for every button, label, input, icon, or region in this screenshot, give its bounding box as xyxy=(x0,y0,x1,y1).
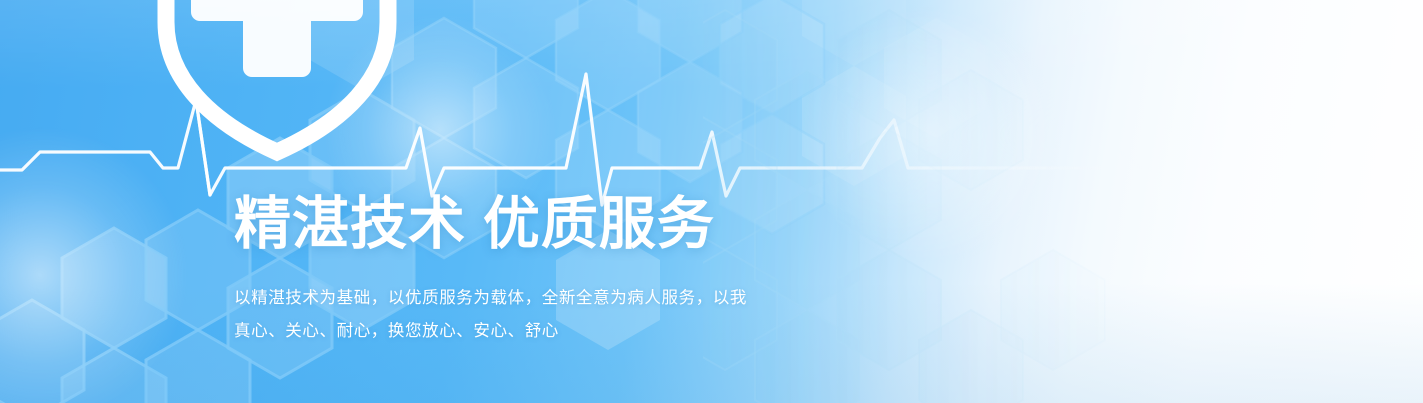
subtitle-line-1: 以精湛技术为基础，以优质服务为载体，全新全意为病人服务，以我 xyxy=(234,282,874,315)
page-title: 精湛技术 优质服务 xyxy=(234,191,874,257)
shield-icon xyxy=(148,0,406,166)
banner-subtitle: 以精湛技术为基础，以优质服务为载体，全新全意为病人服务，以我 真心、关心、耐心，… xyxy=(234,282,874,348)
medical-hero-banner: 精湛技术 优质服务 以精湛技术为基础，以优质服务为载体，全新全意为病人服务，以我… xyxy=(0,0,1423,403)
banner-copy: 精湛技术 优质服务 以精湛技术为基础，以优质服务为载体，全新全意为病人服务，以我… xyxy=(234,191,874,348)
subtitle-line-2: 真心、关心、耐心，换您放心、安心、舒心 xyxy=(234,315,874,348)
medical-cross-icon xyxy=(191,0,363,77)
